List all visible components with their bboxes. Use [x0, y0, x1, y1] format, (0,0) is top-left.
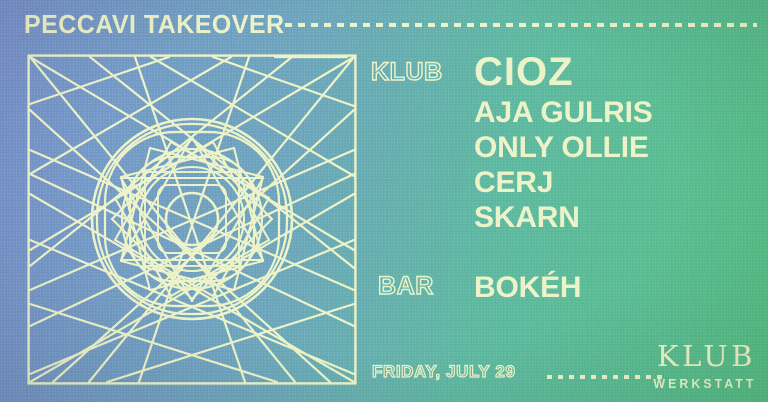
page-title: PECCAVI TAKEOVER — [24, 9, 285, 40]
klub-section-label: KLUB — [371, 58, 443, 87]
klub-headliner: CIOZ — [474, 50, 574, 95]
event-flyer: PECCAVI TAKEOVER — [0, 0, 768, 402]
klub-act-2: AJA GULRIS — [474, 96, 653, 130]
klub-act-5: SKARN — [474, 201, 580, 235]
logo-sub-text: WERKSTATT — [653, 377, 756, 390]
klub-werkstatt-logo: KLUB WERKSTATT — [648, 342, 756, 390]
klub-act-4: CERJ — [474, 166, 553, 200]
logo-main-text: KLUB — [648, 342, 756, 371]
bottom-dashed-divider — [547, 375, 662, 379]
event-date: FRIDAY, JULY 29 — [372, 362, 516, 382]
spirograph-artwork — [27, 54, 357, 385]
top-dashed-divider — [285, 23, 757, 27]
bar-section-label: BAR — [378, 272, 434, 301]
bar-artist: BOKÉH — [474, 271, 581, 305]
klub-act-3: ONLY OLLIE — [474, 131, 649, 165]
